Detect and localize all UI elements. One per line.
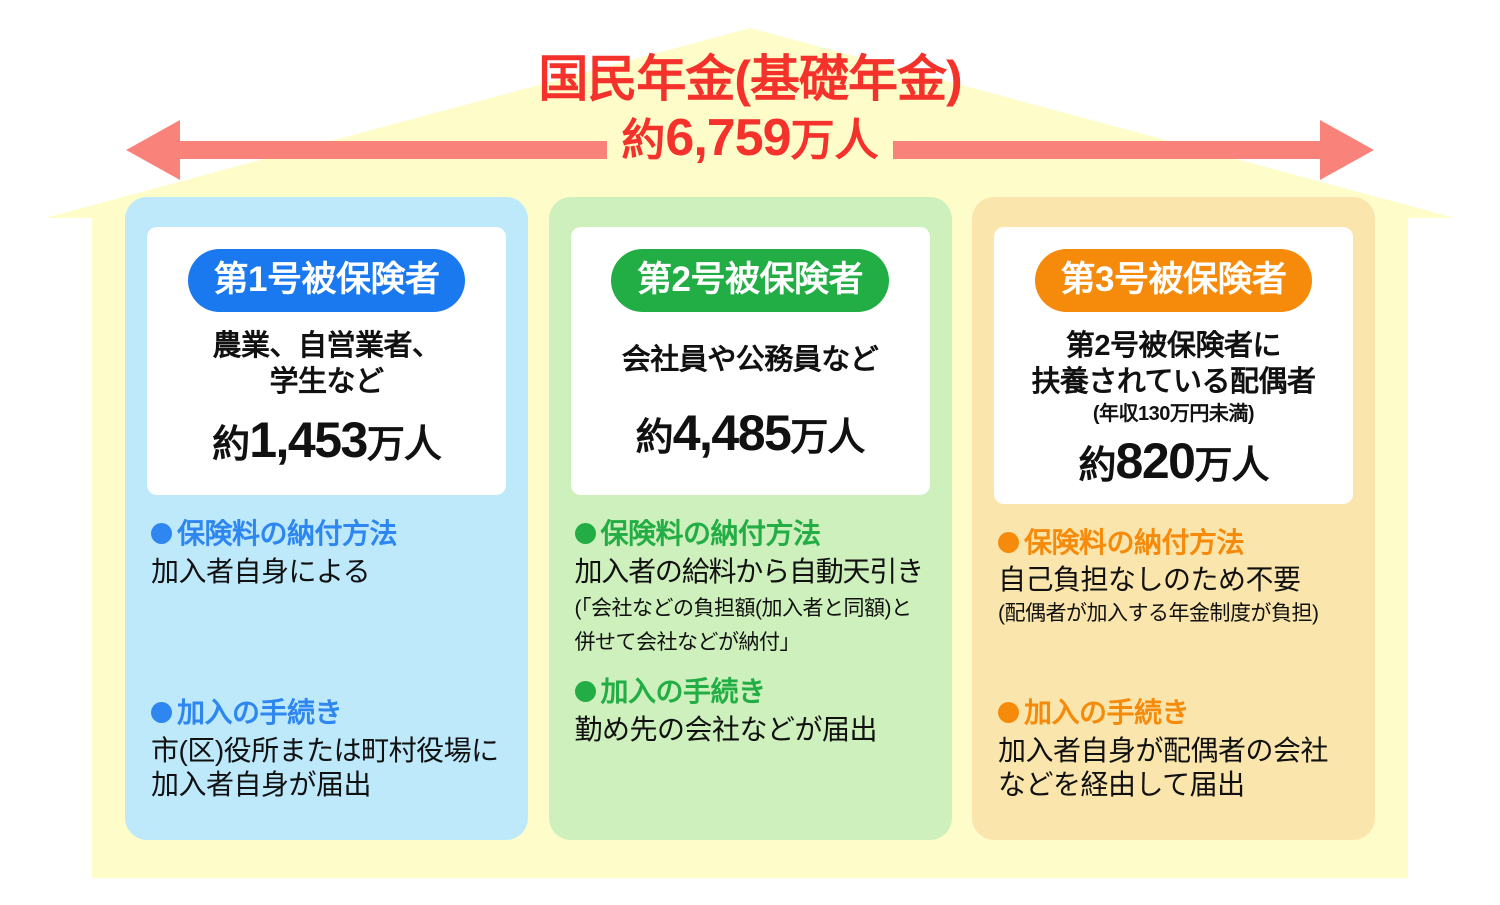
filled-circle-bullet-icon [998,702,1019,723]
total-number: 6,759 [665,109,790,167]
filled-circle-bullet-icon [575,523,596,544]
category-description-type2: 会社員や公務員など [581,342,920,378]
payment-method-section-type2: 保険料の納付方法 加入者の給料から自動天引き(「会社などの負担額(加入者と同額)… [571,517,930,657]
count-prefix: 約 [212,424,249,466]
category-description-type1: 農業、自営業者、 学生など [157,328,496,401]
enrollment-procedure-section-type1: 加入の手続き 市(区)役所または町村役場に加入者自身が届出 [147,696,506,802]
count-suffix: 万人 [367,424,441,466]
heading-text: 加入の手続き [177,696,342,730]
description-line-1: 農業、自営業者、 [157,328,496,364]
total-insured-count: 約6,759万人 [607,112,892,164]
payment-method-heading-type2: 保険料の納付方法 [575,517,926,551]
category-card-type1: 第1号被保険者 農業、自営業者、 学生など 約1,453万人 保険料の納付方法 … [125,197,528,840]
column-spacer [571,747,930,840]
enrollment-procedure-section-type3: 加入の手続き 加入者自身が配偶者の会社などを経由して届出 [994,696,1353,802]
category-pill-type3: 第3号被保険者 [1035,249,1313,312]
category-pill-type1: 第1号被保険者 [188,249,466,312]
payment-method-body-note-type3: (配偶者が加入する年金制度が負担) [998,601,1349,626]
description-line-2: 学生など [157,364,496,400]
enrollment-procedure-body-type1: 市(区)役所または町村役場に加入者自身が届出 [151,734,502,802]
enrollment-procedure-section-type2: 加入の手続き 勤め先の会社などが届出 [571,675,930,747]
filled-circle-bullet-icon [575,681,596,702]
infographic-root: 国民年金(基礎年金) 約6,759万人 第1号被保険者 農業、自営業者、 学生な… [0,0,1500,905]
payment-method-heading-type3: 保険料の納付方法 [998,526,1349,560]
category-count-type2: 約4,485万人 [581,408,920,458]
payment-method-section-type1: 保険料の納付方法 加入者自身による [147,517,506,589]
description-line-1: 会社員や公務員など [581,342,920,378]
payment-method-heading-type1: 保険料の納付方法 [151,517,502,551]
category-summary-type2: 第2号被保険者 会社員や公務員など 約4,485万人 [571,227,930,495]
category-count-type1: 約1,453万人 [157,415,496,465]
category-card-type2: 第2号被保険者 会社員や公務員など 約4,485万人 保険料の納付方法 加入者の… [549,197,952,840]
category-pill-type2: 第2号被保険者 [611,249,889,312]
total-suffix: 万人 [791,116,879,165]
category-summary-type1: 第1号被保険者 農業、自営業者、 学生など 約1,453万人 [147,227,506,495]
category-card-type3: 第3号被保険者 第2号被保険者に 扶養されている配偶者 (年収130万円未満) … [972,197,1375,840]
filled-circle-bullet-icon [998,532,1019,553]
count-number: 4,485 [673,405,791,461]
payment-method-body-type3: 自己負担なしのため不要 [998,563,1349,597]
insured-category-columns: 第1号被保険者 農業、自営業者、 学生など 約1,453万人 保険料の納付方法 … [0,197,1500,840]
category-income-note-type3: (年収130万円未満) [1004,402,1343,426]
heading-text: 保険料の納付方法 [1024,526,1244,560]
payment-method-body-note-type2: (「会社などの負担額(加入者と同額)と併せて会社などが納付」 [575,597,912,654]
count-prefix: 約 [1079,445,1116,487]
category-summary-type3: 第3号被保険者 第2号被保険者に 扶養されている配偶者 (年収130万円未満) … [994,227,1353,504]
heading-text: 保険料の納付方法 [601,517,821,551]
payment-method-body-type2: 加入者の給料から自動天引き(「会社などの負担額(加入者と同額)と併せて会社などが… [575,555,926,657]
category-description-type3: 第2号被保険者に 扶養されている配偶者 [1004,328,1343,401]
category-count-type3: 約820万人 [1004,436,1343,486]
enrollment-procedure-heading-type2: 加入の手続き [575,675,926,709]
payment-method-section-type3: 保険料の納付方法 自己負担なしのため不要 (配偶者が加入する年金制度が負担) [994,526,1353,627]
count-suffix: 万人 [1194,445,1268,487]
enrollment-procedure-heading-type1: 加入の手続き [151,696,502,730]
count-suffix: 万人 [790,417,864,459]
page-title: 国民年金(基礎年金) [0,52,1500,106]
enrollment-procedure-heading-type3: 加入の手続き [998,696,1349,730]
column-spacer [994,626,1353,696]
filled-circle-bullet-icon [151,702,172,723]
description-line-2: 扶養されている配偶者 [1004,364,1343,400]
count-number: 820 [1116,433,1195,489]
payment-method-body-main: 加入者の給料から自動天引き [575,556,923,587]
heading-text: 加入の手続き [601,675,766,709]
column-spacer [147,589,506,696]
total-prefix: 約 [621,116,665,165]
description-line-1: 第2号被保険者に [1004,328,1343,364]
heading-text: 保険料の納付方法 [177,517,397,551]
payment-method-body-type1: 加入者自身による [151,555,502,589]
count-prefix: 約 [636,417,673,459]
header-title-block: 国民年金(基礎年金) 約6,759万人 [0,52,1500,164]
enrollment-procedure-body-type3: 加入者自身が配偶者の会社などを経由して届出 [998,734,1349,802]
count-number: 1,453 [249,412,367,468]
heading-text: 加入の手続き [1024,696,1189,730]
enrollment-procedure-body-type2: 勤め先の会社などが届出 [575,713,926,747]
filled-circle-bullet-icon [151,523,172,544]
